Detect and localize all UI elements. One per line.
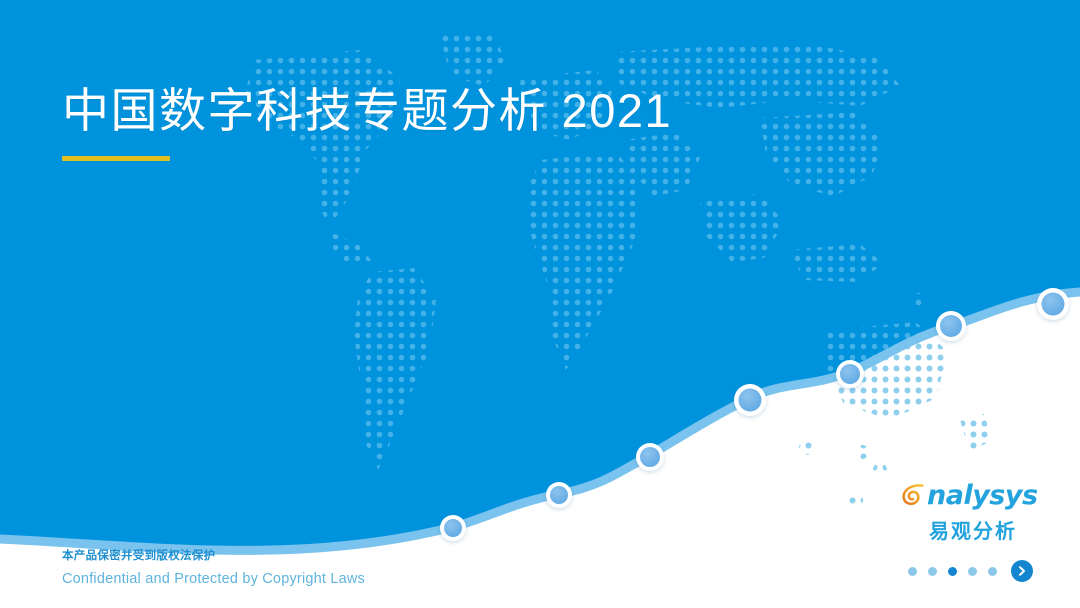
curve-marker-4: [739, 389, 762, 412]
chevron-right-icon: [1016, 565, 1028, 577]
brand-logo: nalysys 易观分析: [900, 478, 1032, 544]
pager-dot-1[interactable]: [908, 567, 917, 576]
title-block: 中国数字科技专题分析 2021: [62, 84, 882, 161]
curve-marker-2: [550, 486, 568, 504]
brand-wordmark: nalysys: [900, 478, 1032, 512]
copyright-notice-cn: 本产品保密并受到版权法保护: [62, 548, 365, 565]
title-accent-rule: [62, 156, 170, 161]
brand-name: nalysys: [927, 482, 1038, 509]
title-slide: 中国数字科技专题分析 2021 本产品保密并受到版权法保护 Confidenti…: [0, 0, 1080, 608]
pager-dot-3[interactable]: [948, 567, 957, 576]
pager-dot-4[interactable]: [968, 567, 977, 576]
curve-marker-1: [444, 519, 462, 537]
curve-marker-7: [1042, 293, 1065, 316]
copyright-notice: 本产品保密并受到版权法保护 Confidential and Protected…: [62, 548, 365, 590]
analysys-swirl-icon: [900, 482, 926, 508]
curve-marker-6: [940, 315, 962, 337]
pager-dot-5[interactable]: [988, 567, 997, 576]
next-slide-button[interactable]: [1011, 560, 1033, 582]
slide-pager: [908, 560, 1033, 582]
page-title: 中国数字科技专题分析 2021: [62, 84, 882, 138]
curve-marker-5: [840, 364, 860, 384]
brand-name-cn: 易观分析: [900, 515, 1032, 544]
pager-dot-2[interactable]: [928, 567, 937, 576]
copyright-notice-en: Confidential and Protected by Copyright …: [62, 569, 365, 590]
curve-marker-3: [640, 447, 660, 467]
